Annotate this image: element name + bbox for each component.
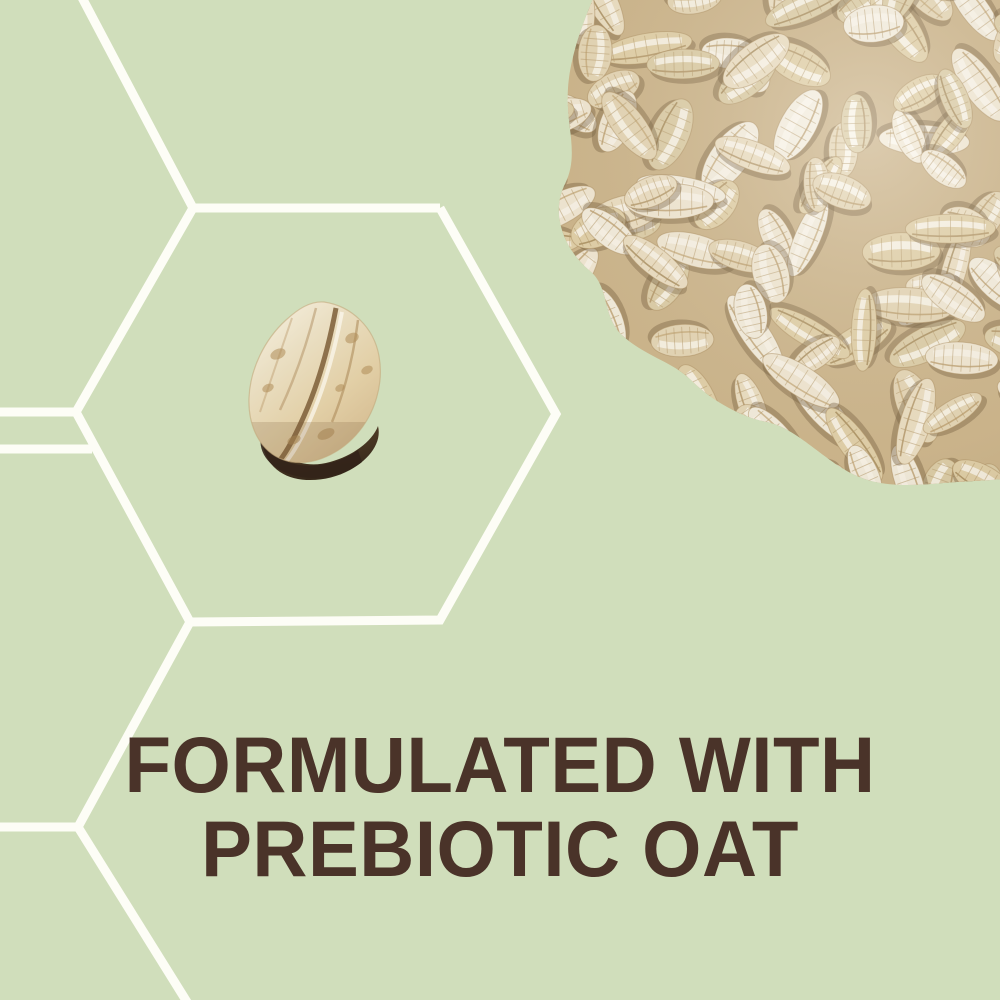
oat-pile-image [505, 0, 1000, 510]
hex-edge-upper-left [78, 0, 440, 208]
single-oat-flake-image [232, 292, 404, 492]
headline-block: FORMULATED WITH PREBIOTIC OAT [0, 727, 1000, 887]
headline-line-2: PREBIOTIC OAT [18, 811, 983, 887]
headline-line-1: FORMULATED WITH [18, 727, 983, 803]
product-banner: FORMULATED WITH PREBIOTIC OAT [0, 0, 1000, 1000]
